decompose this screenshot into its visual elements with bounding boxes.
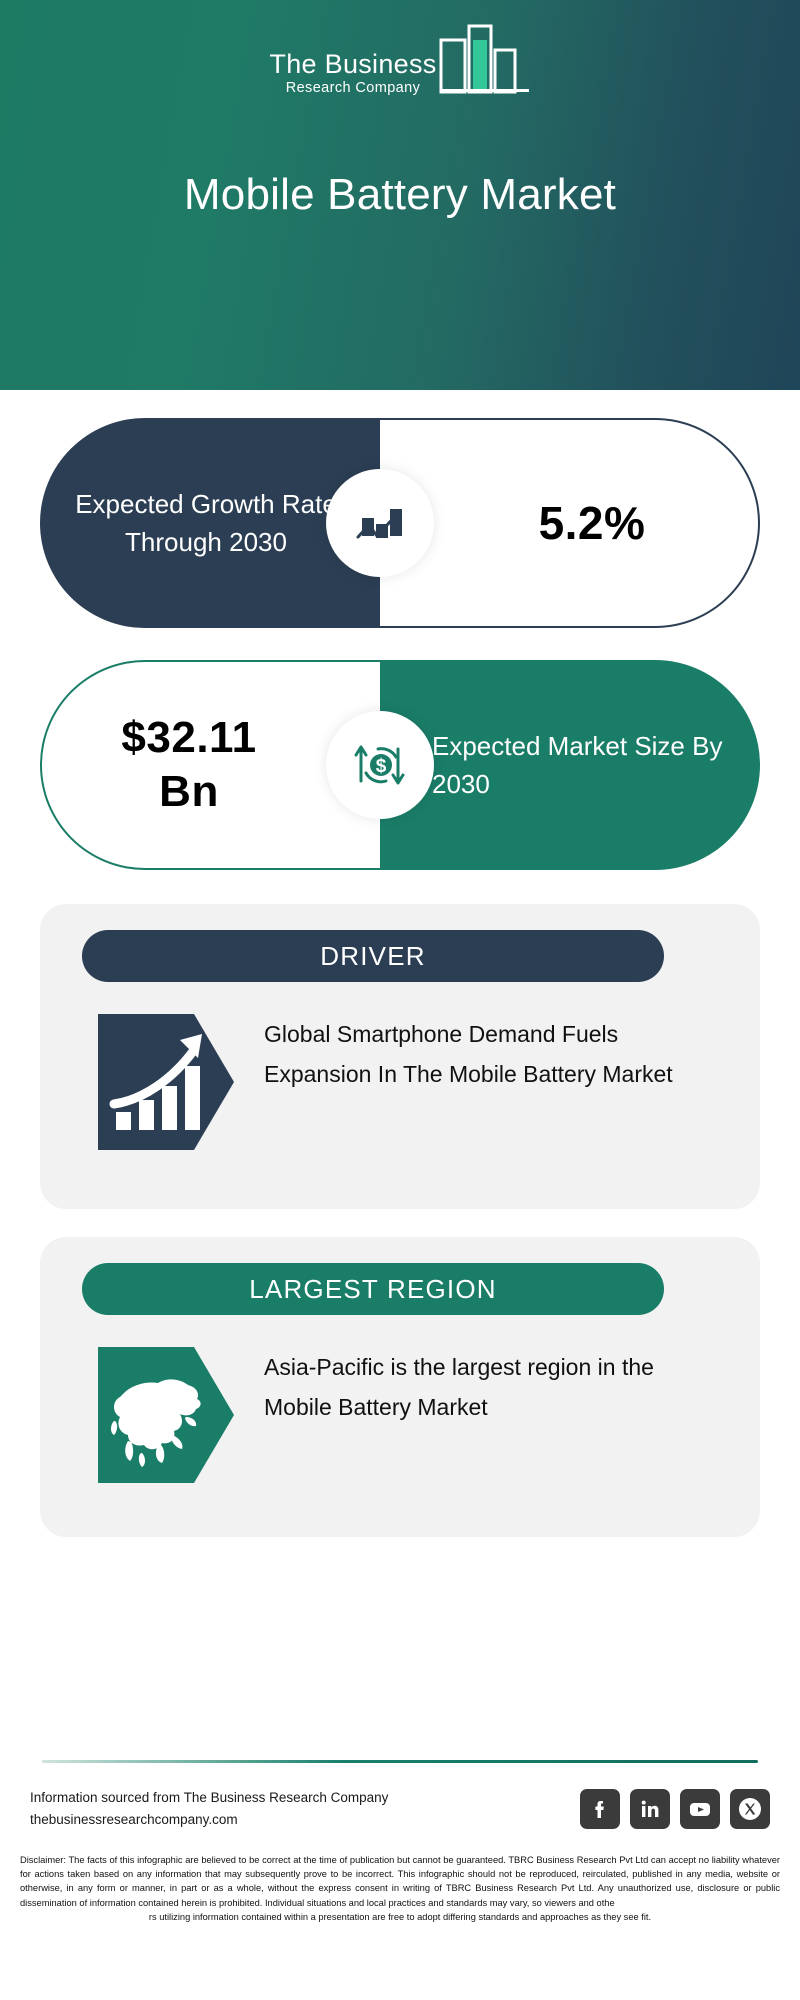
header-banner: The Business Research Company Mobile Bat…	[0, 0, 800, 390]
growth-rate-value: 5.2%	[539, 496, 646, 550]
source-line-1: Information sourced from The Business Re…	[30, 1787, 388, 1809]
facebook-icon[interactable]	[580, 1789, 620, 1829]
company-logo: The Business Research Company	[0, 24, 800, 101]
dollar-circulation-icon: $	[326, 711, 434, 819]
footer: Information sourced from The Business Re…	[0, 1760, 800, 1924]
market-size-card: $32.11 Bn Expected Market Size By 2030 $	[40, 660, 760, 870]
market-size-label: Expected Market Size By 2030	[432, 727, 740, 803]
logo-title: The Business	[269, 49, 436, 79]
rising-bar-chart-pentagon-icon	[98, 1014, 234, 1150]
growth-rate-label: Expected Growth Rate Through 2030	[66, 485, 346, 561]
driver-heading-pill: DRIVER	[82, 930, 664, 982]
source-info: Information sourced from The Business Re…	[30, 1787, 388, 1831]
market-size-value-line2: Bn	[159, 767, 219, 816]
growth-chart-arrow-icon	[326, 469, 434, 577]
linkedin-icon[interactable]	[630, 1789, 670, 1829]
x-twitter-icon[interactable]	[730, 1789, 770, 1829]
footer-divider	[42, 1760, 758, 1763]
svg-text:$: $	[376, 756, 387, 777]
largest-region-heading: LARGEST REGION	[249, 1274, 497, 1305]
driver-panel: DRIVER Global Smartphone Demand Fuels Ex…	[40, 904, 760, 1209]
driver-heading: DRIVER	[320, 941, 425, 972]
youtube-icon[interactable]	[680, 1789, 720, 1829]
largest-region-heading-pill: LARGEST REGION	[82, 1263, 664, 1315]
largest-region-panel: LARGEST REGION Asia-Pacific is the large…	[40, 1237, 760, 1537]
market-size-value-line1: $32.11	[121, 713, 256, 762]
growth-rate-value-half: 5.2%	[380, 418, 760, 628]
asia-pacific-map-pentagon-icon	[98, 1347, 234, 1483]
stat-cards: Expected Growth Rate Through 2030 5.2% $…	[0, 418, 800, 870]
source-line-2[interactable]: thebusinessresearchcompany.com	[30, 1809, 388, 1831]
logo-subtitle: Research Company	[286, 79, 421, 97]
driver-text: Global Smartphone Demand Fuels Expansion…	[264, 1014, 694, 1094]
disclaimer-main: Disclaimer: The facts of this infographi…	[20, 1855, 780, 1908]
page-title: Mobile Battery Market	[0, 170, 800, 220]
largest-region-text: Asia-Pacific is the largest region in th…	[264, 1347, 694, 1427]
market-size-label-half: Expected Market Size By 2030	[380, 660, 760, 870]
growth-rate-card: Expected Growth Rate Through 2030 5.2%	[40, 418, 760, 628]
disclaimer-last-line: rs utilizing information contained withi…	[20, 1910, 780, 1924]
social-links	[580, 1789, 770, 1829]
bar-chart-logo-mark	[439, 24, 531, 99]
disclaimer-text: Disclaimer: The facts of this infographi…	[20, 1853, 780, 1924]
